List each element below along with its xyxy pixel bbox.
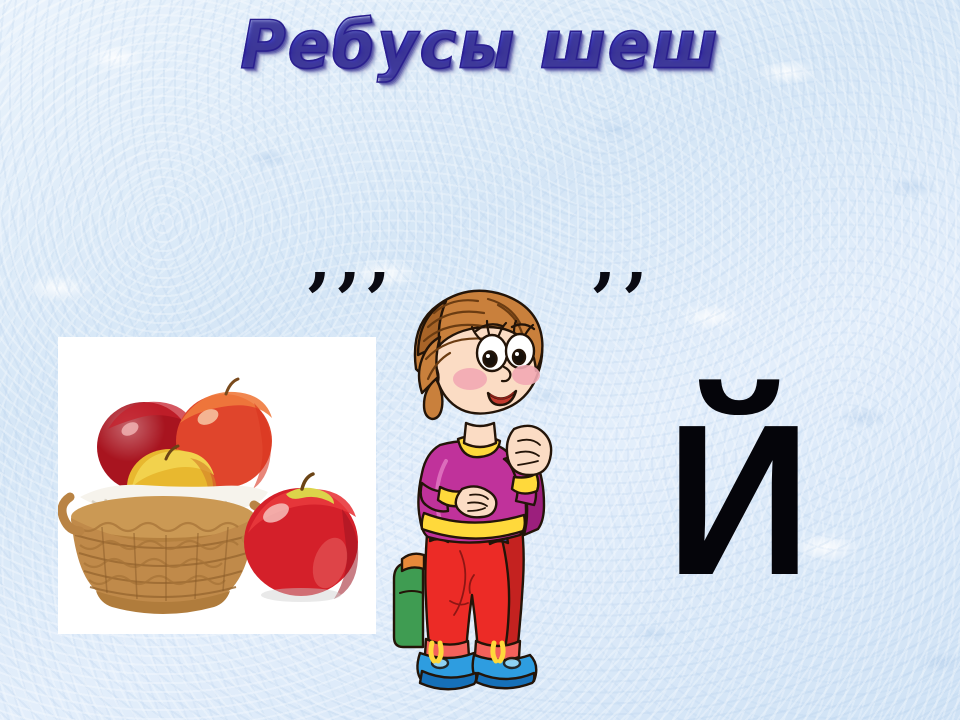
letter-i-kratkoye: Й — [662, 402, 792, 598]
apples-in-basket-image — [58, 337, 376, 634]
head — [415, 291, 542, 419]
apostrophes-left: ’ ’ ’ — [305, 281, 390, 322]
backpack — [394, 554, 424, 647]
presentation-slide: Ребусы шеш — [0, 0, 960, 720]
apostrophe-mark: ’ — [305, 281, 331, 322]
boy-clipart — [388, 283, 584, 695]
apostrophe-mark: ’ — [365, 281, 391, 322]
apostrophe-mark: ’ — [590, 281, 616, 322]
letter-glyph: Й — [666, 402, 788, 598]
apostrophe-mark: ’ — [335, 281, 361, 322]
apostrophes-right: ’ ’ — [590, 281, 648, 322]
apostrophe-mark: ’ — [622, 281, 648, 322]
